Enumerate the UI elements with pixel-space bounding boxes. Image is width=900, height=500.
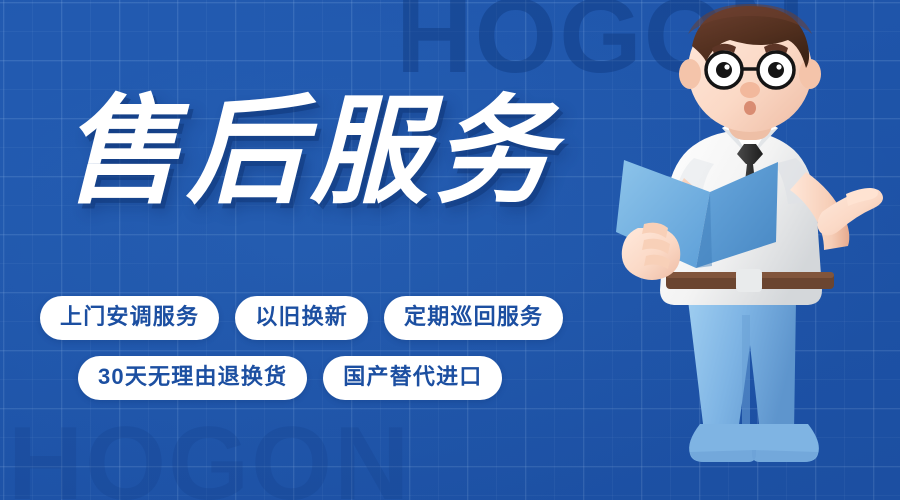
mouth <box>744 101 756 115</box>
service-tag[interactable]: 30天无理由退换货 <box>78 356 307 400</box>
nose <box>740 82 760 98</box>
pants <box>688 300 796 432</box>
businessman-illustration <box>600 0 900 500</box>
after-sales-service-banner: HOGON HOGON 售后服务 上门安调服务 以旧换新 定期巡回服务 30天无… <box>0 0 900 500</box>
shoes <box>689 424 819 462</box>
service-tag-list: 上门安调服务 以旧换新 定期巡回服务 30天无理由退换货 国产替代进口 <box>0 296 660 400</box>
eye-left <box>716 62 732 78</box>
service-tag-row-2: 30天无理由退换货 国产替代进口 <box>0 356 660 400</box>
eye-right <box>768 62 784 78</box>
page-title: 售后服务 <box>62 83 558 222</box>
service-tag[interactable]: 定期巡回服务 <box>384 296 563 340</box>
head <box>679 4 821 132</box>
belt <box>666 269 834 292</box>
service-tag-row-1: 上门安调服务 以旧换新 定期巡回服务 <box>0 296 660 340</box>
service-tag[interactable]: 以旧换新 <box>235 296 368 340</box>
watermark-bottom: HOGON <box>8 412 411 500</box>
service-tag[interactable]: 上门安调服务 <box>40 296 219 340</box>
service-tag[interactable]: 国产替代进口 <box>323 356 502 400</box>
